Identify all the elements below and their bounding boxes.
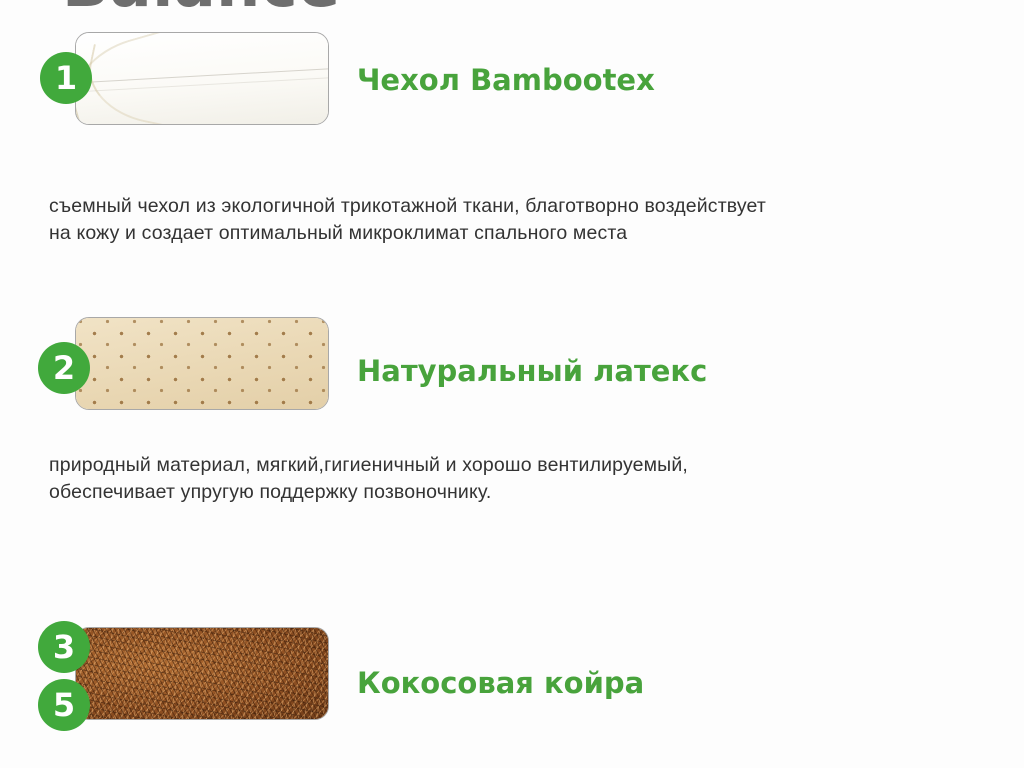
page-title: Balance xyxy=(62,0,341,21)
description-line: съемный чехол из экологичной трикотажной… xyxy=(49,193,989,220)
seam-line xyxy=(75,66,329,85)
description-line: природный материал, мягкий,гигиеничный и… xyxy=(49,452,989,479)
step-badge-5: 5 xyxy=(38,679,90,731)
feature-heading-latex: Натуральный латекс xyxy=(357,354,707,388)
bambootex-fabric-swatch xyxy=(75,32,329,125)
seam-line xyxy=(75,75,329,94)
feature-heading-bambootex: Чехол Bambootex xyxy=(357,63,655,97)
step-badge-3: 3 xyxy=(38,621,90,673)
coir-fibre-texture xyxy=(76,628,328,719)
natural-latex-swatch xyxy=(75,317,329,410)
perforated-latex-texture xyxy=(76,318,328,409)
feature-heading-coir: Кокосовая койра xyxy=(357,666,644,700)
description-line: на кожу и создает оптимальный микроклима… xyxy=(49,220,989,247)
description-line: обеспечивает упругую поддержку позвоночн… xyxy=(49,479,989,506)
infographic-page: Balance 1 Чехол Bambootex съемный чехол … xyxy=(0,0,1024,768)
step-badge-2: 2 xyxy=(38,342,90,394)
feature-description-bambootex: съемный чехол из экологичной трикотажной… xyxy=(49,193,989,247)
step-badge-1: 1 xyxy=(40,52,92,104)
quilted-fabric-texture xyxy=(76,33,328,124)
coconut-coir-swatch xyxy=(75,627,329,720)
feature-description-latex: природный материал, мягкий,гигиеничный и… xyxy=(49,452,989,506)
